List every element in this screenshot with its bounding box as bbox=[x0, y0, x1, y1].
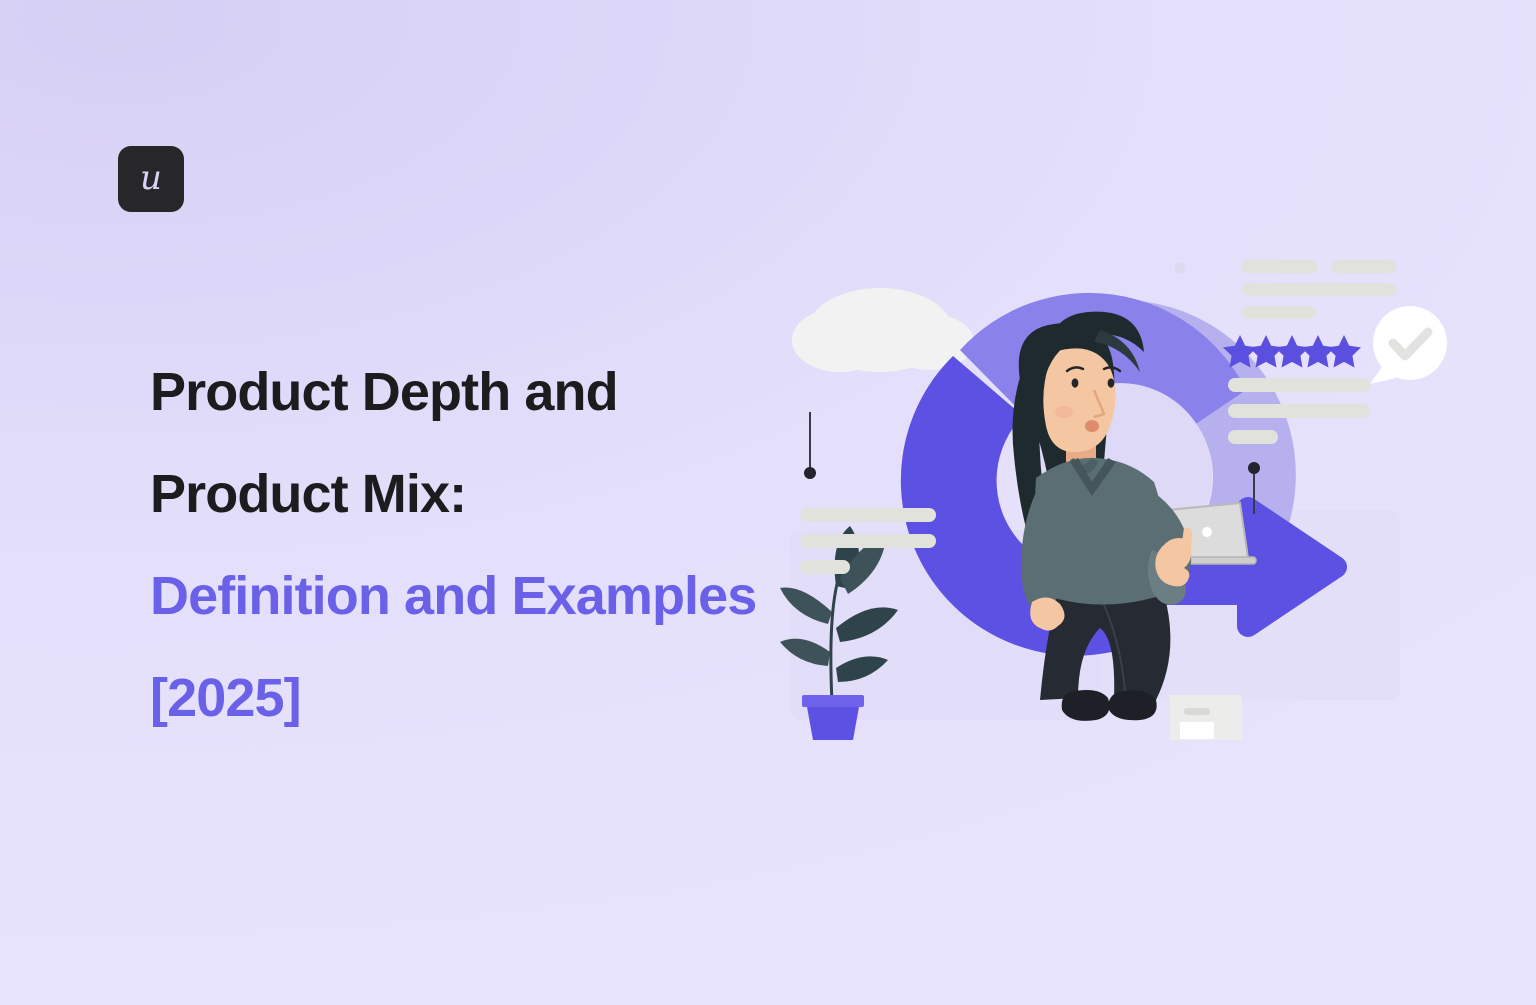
title-line-3: Definition and Examples bbox=[150, 545, 790, 647]
title-line-4: [2025] bbox=[150, 647, 790, 749]
userpilot-logo[interactable]: u bbox=[118, 146, 184, 212]
hero-banner: u Product Depth and Product Mix: Definit… bbox=[0, 0, 1536, 1005]
page-title: Product Depth and Product Mix: Definitio… bbox=[150, 341, 790, 749]
box-icon bbox=[1170, 695, 1242, 740]
product-lifecycle-illustration bbox=[770, 240, 1470, 740]
logo-glyph: u bbox=[140, 161, 162, 195]
check-bubble-icon bbox=[1370, 306, 1447, 384]
title-line-2: Product Mix: bbox=[150, 443, 790, 545]
cloud-icon bbox=[792, 288, 974, 372]
star-rating bbox=[1223, 335, 1361, 368]
title-line-1: Product Depth and bbox=[150, 341, 790, 443]
